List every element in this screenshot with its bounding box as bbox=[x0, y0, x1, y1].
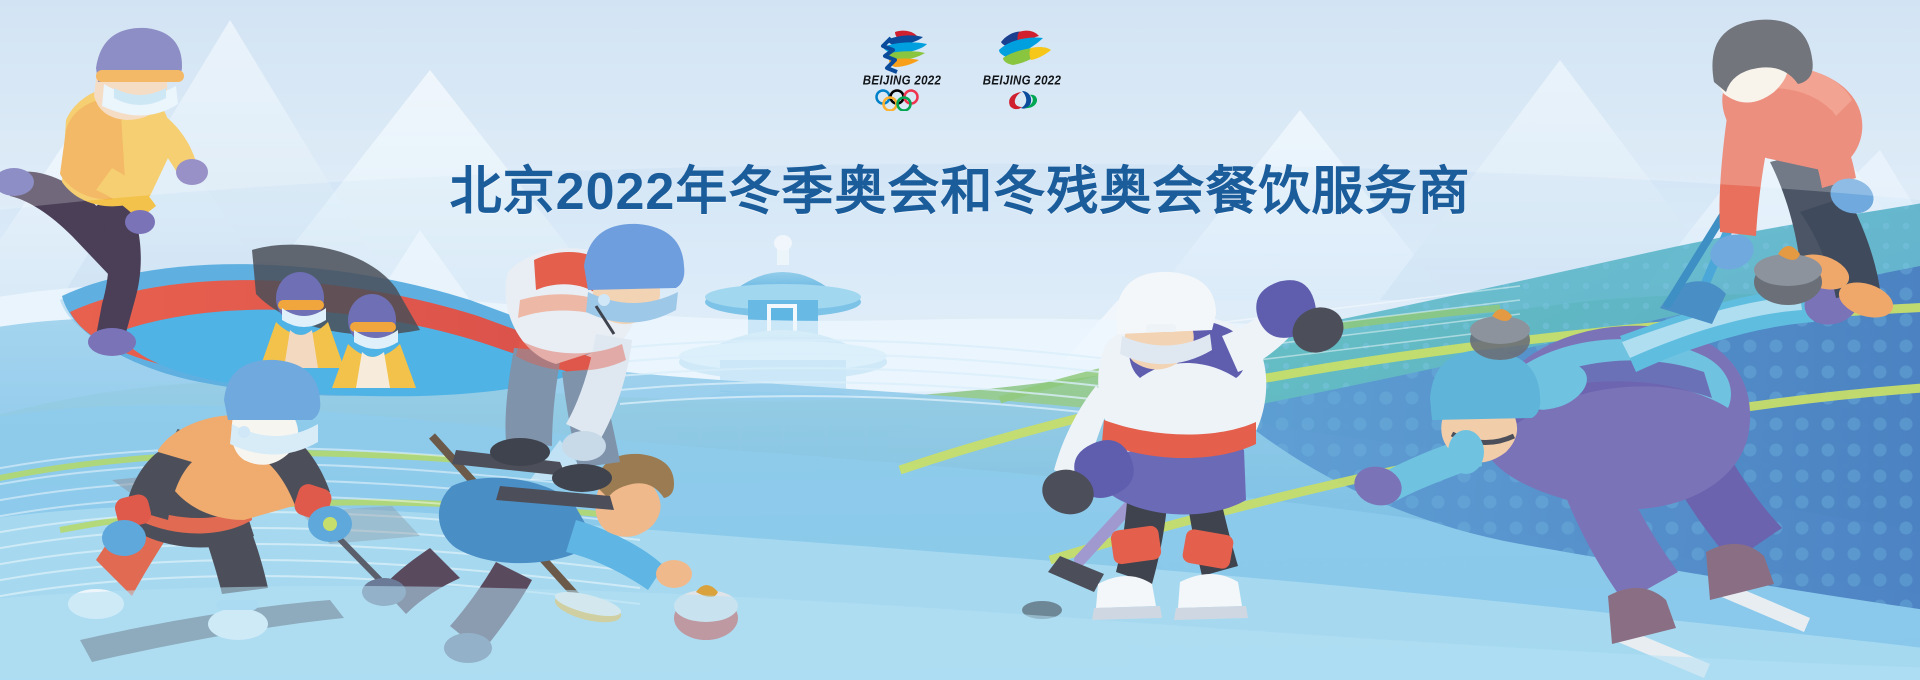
page-title: 北京2022年冬季奥会和冬残奥会餐饮服务商 bbox=[0, 161, 1920, 223]
hockey-sock-back bbox=[1110, 525, 1162, 565]
olympic-sponsor-banner: BEIJING 2022 BEIJING 2022 bbox=[0, 0, 1920, 680]
paralympic-wordmark: BEIJING 2022 bbox=[983, 74, 1061, 87]
games-emblems: BEIJING 2022 BEIJING 2022 bbox=[852, 28, 1072, 126]
beijing-2022-winter-olympics-emblem bbox=[865, 28, 939, 74]
skater-glove bbox=[562, 431, 606, 461]
olympic-emblem-unit: BEIJING 2022 bbox=[852, 28, 952, 111]
olympic-rings bbox=[873, 89, 931, 111]
skier-glove-left bbox=[102, 520, 146, 556]
right-ear-cover bbox=[1448, 430, 1484, 474]
paralympic-agitos bbox=[1002, 90, 1042, 112]
skate-boot-back bbox=[490, 438, 550, 466]
beijing-2022-winter-paralympics-emblem bbox=[985, 28, 1059, 74]
skate-boot-front bbox=[552, 464, 612, 492]
paralympic-emblem-unit: BEIJING 2022 bbox=[972, 28, 1072, 112]
olympic-wordmark: BEIJING 2022 bbox=[863, 74, 941, 87]
pusher-boot-front bbox=[88, 328, 136, 356]
curler-hand bbox=[656, 560, 692, 588]
hockey-skate-front bbox=[1178, 574, 1242, 608]
